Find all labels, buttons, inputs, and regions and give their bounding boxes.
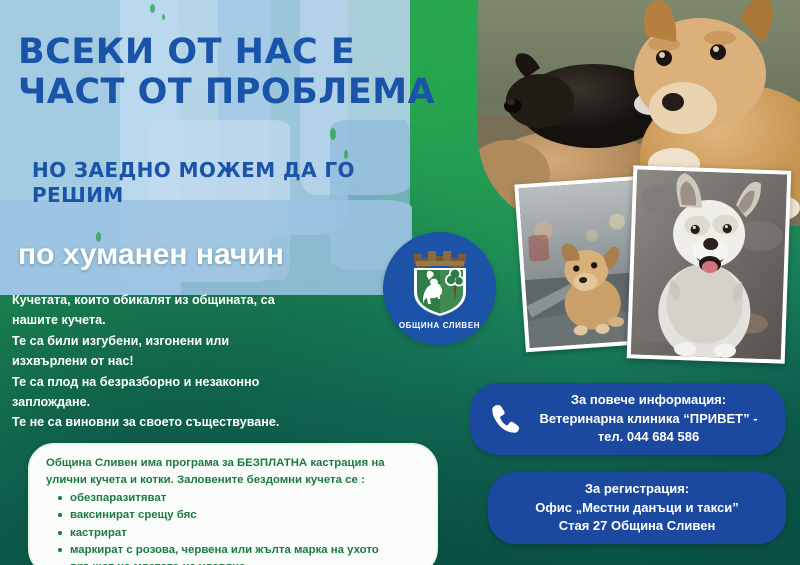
contact-info-text: За повече информация: Ветеринарна клиник… bbox=[526, 391, 771, 448]
body-copy-line: Те не са виновни за своето съществуване. bbox=[12, 412, 372, 432]
contact-info-line-3: тел. 044 684 586 bbox=[598, 429, 699, 444]
body-copy-line: Кучетата, които обикалят из общината, са bbox=[12, 290, 372, 310]
program-list-item: ваксинират срещу бяс bbox=[70, 507, 422, 524]
program-list: обезпаразитяват ваксинират срещу бяс кас… bbox=[46, 490, 422, 565]
program-list-item: кастрират bbox=[70, 525, 422, 542]
phone-handset-icon bbox=[488, 402, 522, 436]
program-list-item: връщат на мястото на улавяне bbox=[70, 559, 422, 565]
contact-registration-line-3: Стая 27 Община Сливен bbox=[559, 518, 716, 533]
body-copy-line: Те са плод на безразборно и незаконно bbox=[12, 372, 372, 392]
program-list-item: обезпаразитяват bbox=[70, 490, 422, 507]
sliven-coat-of-arms-icon bbox=[403, 240, 477, 318]
contact-registration-line-1: За регистрация: bbox=[585, 481, 689, 496]
municipality-logo: ОБЩИНА СЛИВЕН bbox=[383, 232, 496, 345]
headline-line-2: ЧАСТ ОТ ПРОБЛЕМА bbox=[18, 74, 458, 111]
body-copy-line: нашите кучета. bbox=[12, 310, 372, 330]
white-stray-dog-photo bbox=[627, 165, 792, 363]
headline-line-1: ВСЕКИ ОТ НАС Е bbox=[18, 32, 355, 72]
white-stray-dog-image bbox=[631, 169, 787, 359]
subheadline-line-2: РЕШИМ bbox=[32, 183, 124, 207]
tagline: по хуманен начин bbox=[18, 238, 448, 271]
paint-fleck bbox=[150, 4, 155, 13]
contact-info-panel: За повече информация: Ветеринарна клиник… bbox=[470, 383, 785, 455]
paint-fleck bbox=[330, 128, 336, 140]
body-copy-line: изхвърлени от нас! bbox=[12, 351, 372, 371]
body-copy-line: Те са били изгубени, изгонени или bbox=[12, 331, 372, 351]
subheadline: НО ЗАЕДНО МОЖЕМ ДА ГО РЕШИМ bbox=[32, 158, 432, 208]
contact-info-line-1: За повече информация: bbox=[571, 392, 726, 407]
program-intro-text: Община Сливен има програма за БЕЗПЛАТНА … bbox=[46, 455, 422, 488]
contact-registration-line-2: Офис „Местни данъци и такси” bbox=[535, 500, 738, 515]
phone-icon bbox=[484, 402, 526, 436]
municipality-logo-caption: ОБЩИНА СЛИВЕН bbox=[399, 321, 480, 330]
contact-registration-panel: За регистрация: Офис „Местни данъци и та… bbox=[488, 472, 786, 544]
body-copy: Кучетата, които обикалят из общината, са… bbox=[12, 290, 372, 433]
program-list-item: маркират с розова, червена или жълта мар… bbox=[70, 542, 422, 559]
contact-registration-text: За регистрация: Офис „Местни данъци и та… bbox=[500, 480, 774, 537]
contact-info-line-2: Ветеринарна клиника “ПРИВЕТ” - bbox=[539, 411, 757, 426]
program-box: Община Сливен има програма за БЕЗПЛАТНА … bbox=[28, 443, 438, 565]
paint-fleck bbox=[162, 14, 165, 20]
poster-canvas: ВСЕКИ ОТ НАС Е ЧАСТ ОТ ПРОБЛЕМА НО ЗАЕДН… bbox=[0, 0, 800, 565]
headline: ВСЕКИ ОТ НАС Е ЧАСТ ОТ ПРОБЛЕМА bbox=[18, 34, 458, 111]
subheadline-line-1: НО ЗАЕДНО МОЖЕМ ДА ГО bbox=[32, 158, 355, 182]
body-copy-line: заплождане. bbox=[12, 392, 372, 412]
